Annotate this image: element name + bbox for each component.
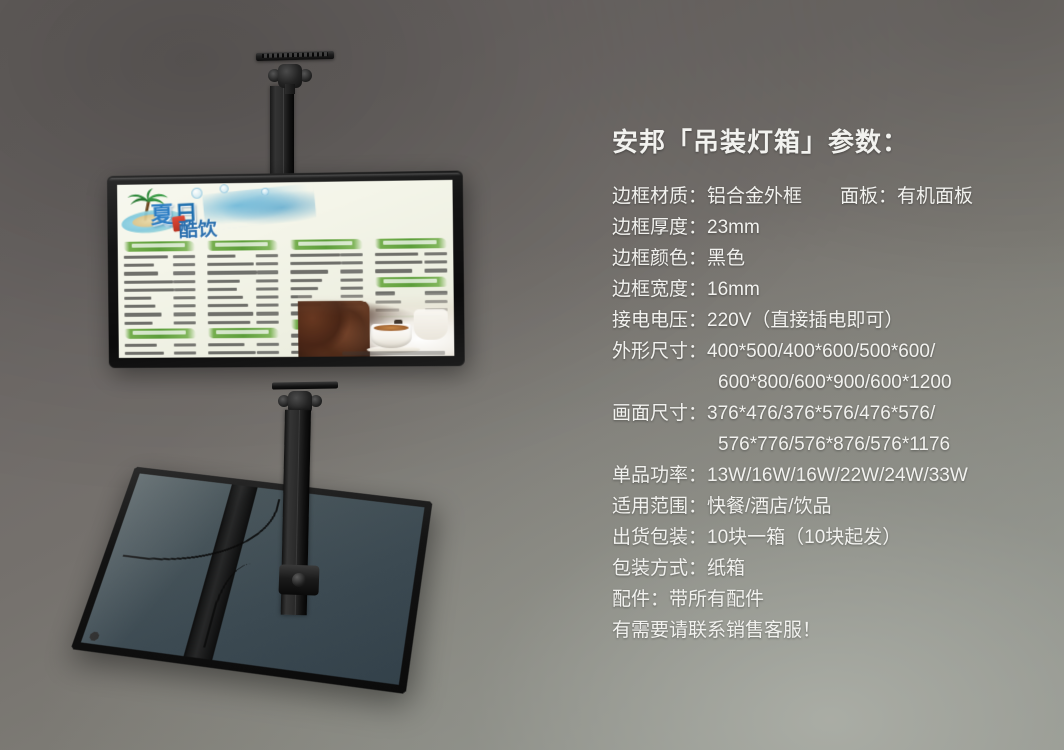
menu-section-header [207,328,278,339]
mounting-bracket-strip [183,481,259,663]
menu-item [124,270,195,277]
spec-line: 配件：带所有配件 [612,584,1042,615]
menu-item [207,319,278,326]
menu-header-artwork: 夏日 酷饮 [117,182,324,244]
menu-item [125,350,196,356]
menu-item [207,310,278,317]
menu-item [124,278,195,285]
swivel-neck [285,84,295,94]
menu-section-header [124,241,195,252]
menu-item [207,277,278,284]
menu-section-header [125,328,196,339]
spec-line: 边框材质：铝合金外框 面板：有机面板 [612,181,1042,212]
menu-item [290,260,362,267]
menu-item [124,319,195,326]
menu-item [207,253,278,260]
coffee-beans-image [298,301,370,357]
menu-item [207,269,278,276]
power-cable [123,484,280,574]
mount-plate-holes [262,52,328,58]
menu-item [125,342,196,348]
menu-item [124,254,195,261]
menu-item [290,277,362,284]
menu-column-2 [200,236,285,357]
menu-item [291,285,363,292]
menu-item [207,294,278,301]
spec-line: 边框宽度：16mm [612,274,1042,305]
upper-swivel-joint [268,60,312,90]
menu-item [375,267,448,274]
spec-list: 边框材质：铝合金外框 面板：有机面板 边框厚度：23mm 边框颜色：黑色 边框宽… [612,181,1042,646]
spec-line: 包装方式：纸箱 [612,553,1042,584]
menu-item [207,302,278,309]
spec-line: 适用范围：快餐/酒店/饮品 [612,491,1042,522]
menu-item [207,286,278,293]
aluminum-frame: 夏日 酷饮 [107,171,465,368]
frame-corner-tab [88,631,100,641]
menu-section-header [375,277,448,288]
menu-item [290,252,362,259]
menu-item [208,341,279,348]
menu-item [208,349,279,355]
menu-section-header [290,239,362,250]
spec-line: 单品功率：13W/16W/16W/22W/24W/33W [612,460,1042,491]
menu-item [124,295,195,302]
menu-item [124,262,195,269]
light-box-rear-view [71,467,433,694]
menu-section-header [374,238,447,249]
menu-item [124,287,195,294]
coffee-photo [298,293,454,357]
page-title: 安邦「吊装灯箱」参数： [612,122,1042,159]
spec-line: 600*800/600*900/600*1200 [612,367,1042,398]
rear-panel-surface [81,473,425,684]
power-cable-lower [203,561,270,653]
spec-line: 边框颜色：黑色 [612,243,1042,274]
spec-line: 画面尺寸：376*476/376*576/476*576/ [612,398,1042,429]
specification-panel: 安邦「吊装灯箱」参数： 边框材质：铝合金外框 面板：有机面板 边框厚度：23mm… [612,122,1042,646]
menu-item [291,357,363,358]
bubble-icon [261,187,269,195]
spec-line: 边框厚度：23mm [612,212,1042,243]
menu-footer-strip [342,351,445,356]
product-photo-scene: 夏日 酷饮 [0,0,1064,750]
coffee-cup [366,314,419,354]
hanging-light-box: 夏日 酷饮 [107,171,465,368]
menu-column-1 [118,237,202,357]
rear-aluminum-frame [71,467,433,694]
menu-item [290,268,362,275]
menu-panel: 夏日 酷饮 [117,180,454,358]
spec-line: 接电电压：220V（直接插电即可） [612,305,1042,336]
spec-line: 外形尺寸：400*500/400*600/500*600/ [612,336,1042,367]
spec-line: 出货包装：10块一箱（10块起发） [612,522,1042,553]
panel-clamp-bracket [278,564,319,595]
spec-line: 576*776/576*876/576*1176 [612,429,1042,460]
menu-item [375,259,448,266]
menu-section-header [207,240,278,251]
spec-line: 有需要请联系销售客服！ [612,615,1042,646]
menu-item [374,251,447,258]
menu-item [207,261,278,268]
menu-item [124,311,195,318]
menu-item [124,303,195,310]
